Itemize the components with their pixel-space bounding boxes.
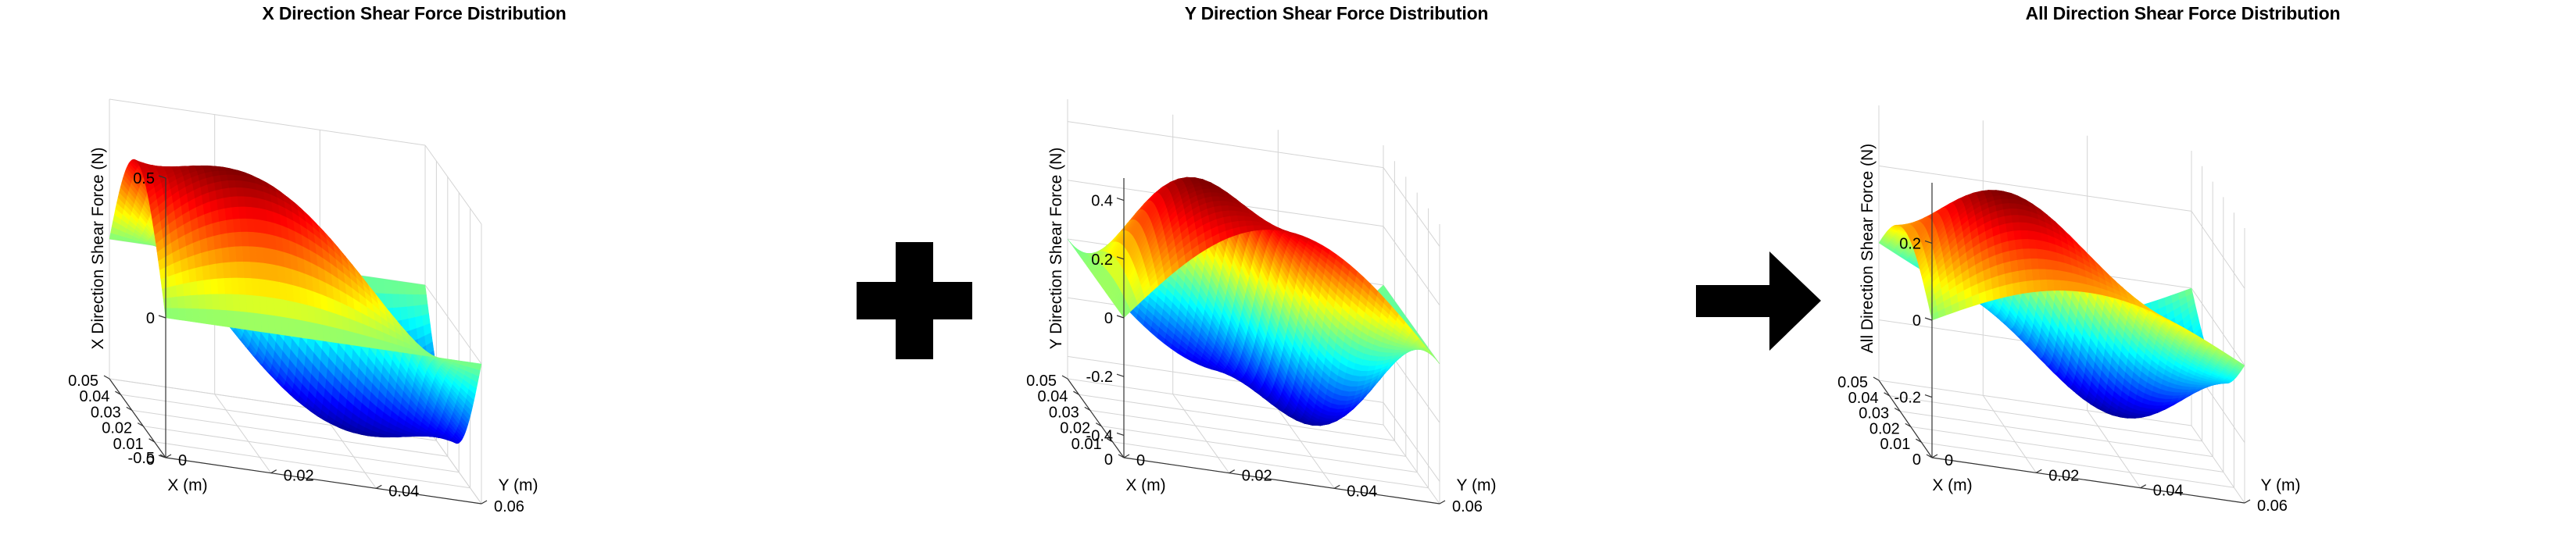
ytick-all-direction-2: 0.04 xyxy=(2153,483,2184,500)
ztick-y-direction-2: 0 xyxy=(1104,310,1113,327)
ztick-y-direction-3: -0.2 xyxy=(1086,369,1113,386)
ytick-x-direction-0: 0 xyxy=(178,452,187,469)
ztick-y-direction-0: 0.4 xyxy=(1091,193,1113,210)
ztick-all-direction-1: 0 xyxy=(1912,312,1921,330)
xaxis-label-x-direction: X (m) xyxy=(167,476,207,494)
ztick-x-direction-0: 0.5 xyxy=(133,170,155,187)
ytick-all-direction-0: 0 xyxy=(1945,452,1953,469)
ytick-all-direction-3: 0.06 xyxy=(2257,497,2288,515)
xtick-x-direction-0: 0.05 xyxy=(68,373,98,390)
plot-area-all-direction: 0.050.040.030.020.01000.020.040.060.20-0… xyxy=(1790,0,2576,542)
xtick-x-direction-3: 0.02 xyxy=(102,420,132,437)
yaxis-label-x-direction: Y (m) xyxy=(499,476,538,494)
xtick-y-direction-2: 0.03 xyxy=(1049,404,1079,421)
xtick-x-direction-1: 0.04 xyxy=(79,388,109,405)
ytick-x-direction-1: 0.02 xyxy=(284,468,314,485)
ytick-x-direction-3: 0.06 xyxy=(494,498,524,515)
ytick-y-direction-3: 0.06 xyxy=(1452,498,1483,515)
ztick-x-direction-1: 0 xyxy=(146,310,155,327)
ztick-x-direction-2: -0.5 xyxy=(128,450,155,467)
yaxis-label-all-direction: Y (m) xyxy=(2261,476,2301,494)
xaxis-label-y-direction: X (m) xyxy=(1125,476,1165,494)
panel-all-direction: All Direction Shear Force Distribution 0… xyxy=(1790,0,2576,542)
ytick-y-direction-1: 0.02 xyxy=(1242,468,1272,485)
plot-area-x-direction: 0.050.040.030.020.01000.020.040.060.50-0… xyxy=(0,0,828,542)
xtick-all-direction-2: 0.03 xyxy=(1859,405,1889,423)
panel-y-direction: Y Direction Shear Force Distribution 0.0… xyxy=(922,0,1751,542)
plot-area-y-direction: 0.050.040.030.020.01000.020.040.060.40.2… xyxy=(922,0,1751,542)
xtick-all-direction-3: 0.02 xyxy=(1869,420,1900,437)
xtick-x-direction-2: 0.03 xyxy=(91,404,121,421)
ytick-y-direction-0: 0 xyxy=(1136,452,1145,469)
surface-mesh-all-direction xyxy=(1879,191,2245,419)
xtick-y-direction-5: 0 xyxy=(1104,451,1113,469)
xtick-all-direction-4: 0.01 xyxy=(1880,436,1910,453)
ztick-y-direction-1: 0.2 xyxy=(1091,251,1113,269)
yaxis-label-y-direction: Y (m) xyxy=(1457,476,1497,494)
xaxis-label-all-direction: X (m) xyxy=(1932,476,1972,494)
ytick-all-direction-1: 0.02 xyxy=(2048,467,2079,484)
xtick-y-direction-1: 0.04 xyxy=(1037,388,1068,405)
ytick-x-direction-2: 0.04 xyxy=(388,483,419,500)
xtick-all-direction-1: 0.04 xyxy=(1848,390,1879,407)
ztick-all-direction-0: 0.2 xyxy=(1899,235,1921,252)
zaxis-label-y-direction: Y Direction Shear Force (N) xyxy=(1047,148,1065,350)
ztick-y-direction-4: -0.4 xyxy=(1086,427,1113,444)
xtick-all-direction-5: 0 xyxy=(1912,451,1921,469)
zaxis-label-x-direction: X Direction Shear Force (N) xyxy=(89,147,107,349)
xtick-all-direction-0: 0.05 xyxy=(1837,374,1868,391)
panel-x-direction: X Direction Shear Force Distribution 0.0… xyxy=(0,0,828,542)
xtick-y-direction-0: 0.05 xyxy=(1026,373,1057,390)
ztick-all-direction-2: -0.2 xyxy=(1894,390,1921,407)
figure-root: X Direction Shear Force Distribution 0.0… xyxy=(0,0,2576,542)
ytick-y-direction-2: 0.04 xyxy=(1347,483,1377,500)
zaxis-label-all-direction: All Direction Shear Force (N) xyxy=(1859,144,1877,353)
